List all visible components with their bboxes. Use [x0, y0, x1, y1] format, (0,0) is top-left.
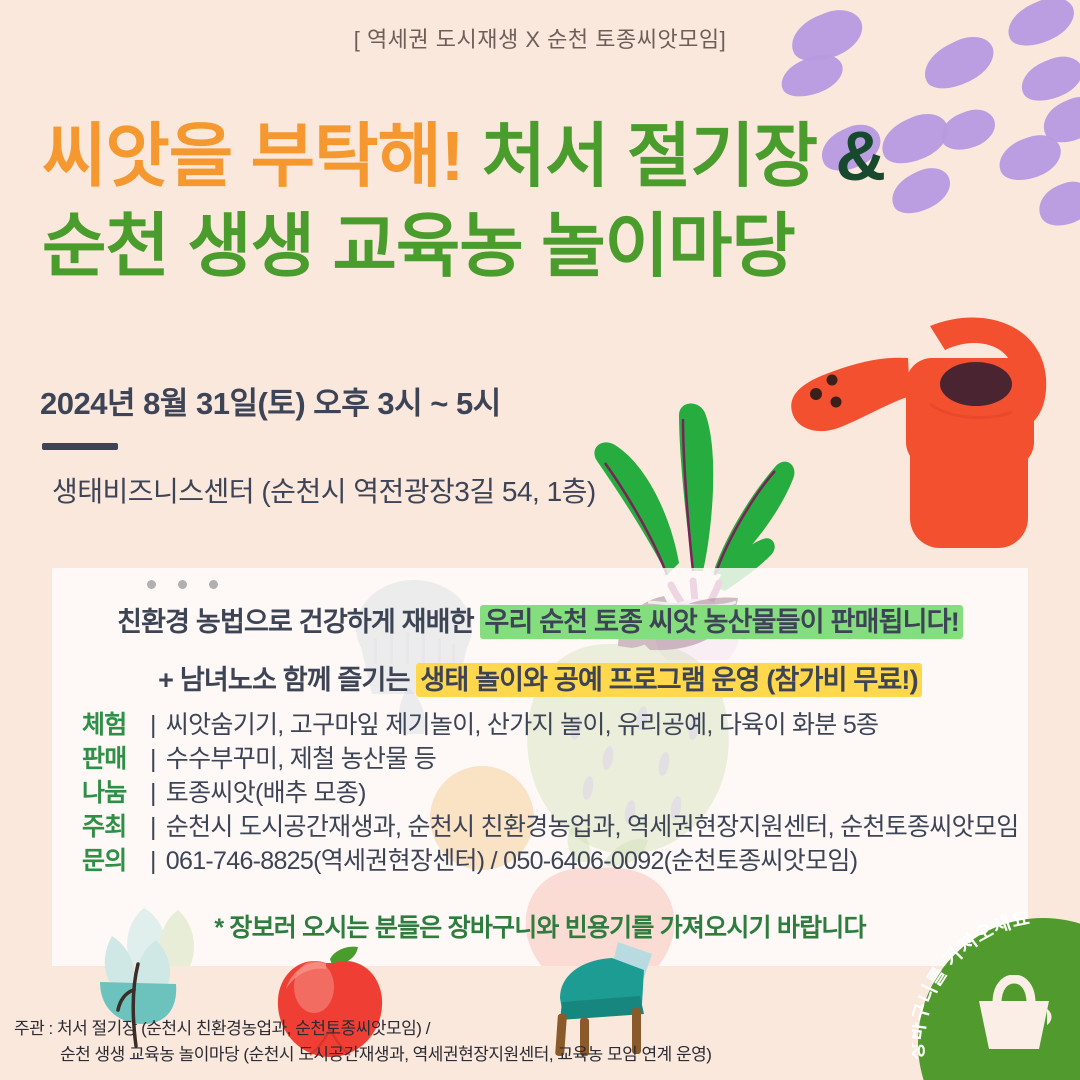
bring-basket-note: * 장보러 오시는 분들은 장바구니와 빈용기를 가져오시기 바랍니다 — [52, 908, 1028, 944]
detail-row-label: 판매 — [82, 742, 144, 776]
detail-row-separator: | — [150, 742, 156, 776]
title-part-green: 처서 절기장 — [482, 117, 836, 195]
detail-row-separator: | — [150, 810, 156, 844]
poster-canvas: [ 역세권 도시재생 X 순천 토종씨앗모임] 씨앗을 부탁해! 처서 절기장 … — [0, 0, 1080, 1080]
detail-row-value: 토종씨앗(배추 모종) — [166, 776, 366, 810]
content-panel: 친환경 농법으로 건강하게 재배한 우리 순천 토종 씨앗 농산물들이 판매됩니… — [52, 568, 1028, 966]
detail-row-label: 나눔 — [82, 776, 144, 810]
detail-row: 나눔 | 토종씨앗(배추 모종) — [82, 776, 1019, 810]
detail-row: 주최 | 순천시 도시공간재생과, 순천시 친환경농업과, 역세권현장지원센터,… — [82, 810, 1019, 844]
title-part-orange: 씨앗을 부탁해! — [42, 117, 482, 195]
detail-row-value: 순천시 도시공간재생과, 순천시 친환경농업과, 역세권현장지원센터, 순천토종… — [166, 810, 1019, 844]
purple-brush-stroke-icon — [993, 128, 1067, 187]
title-line-1: 씨앗을 부탁해! 처서 절기장 & — [42, 112, 1002, 202]
title-part-ampersand: & — [836, 117, 886, 195]
detail-row-label: 문의 — [82, 844, 144, 878]
purple-brush-stroke-icon — [1015, 49, 1080, 108]
detail-rows: 체험 | 씨앗숨기기, 고구마잎 제기놀이, 산가지 놀이, 유리공예, 다육이… — [82, 708, 1019, 878]
lead-line-1: 친환경 농법으로 건강하게 재배한 우리 순천 토종 씨앗 농산물들이 판매됩니… — [52, 600, 1028, 639]
lead-1-plain: 친환경 농법으로 건강하게 재배한 — [117, 607, 480, 637]
lead-line-2: + 남녀노소 함께 즐기는 생태 놀이와 공예 프로그램 운영 (참가비 무료!… — [52, 658, 1028, 697]
purple-brush-stroke-icon — [1036, 90, 1080, 151]
event-datetime: 2024년 8월 31일(토) 오후 3시 ~ 5시 — [40, 378, 501, 423]
credits-line-2: 순천 생생 교육농 놀이마당 (순천시 도시공간재생과, 역세권현장지원센터, … — [14, 1042, 711, 1068]
detail-row: 판매 | 수수부꾸미, 제철 농산물 등 — [82, 742, 1019, 776]
page-title: 씨앗을 부탁해! 처서 절기장 & 순천 생생 교육농 놀이마당 — [42, 112, 1002, 291]
lead-1-highlight: 우리 순천 토종 씨앗 농산물들이 판매됩니다! — [480, 605, 962, 639]
detail-row-value: 061-746-8825(역세권현장센터) / 050-6406-0092(순천… — [166, 844, 858, 878]
purple-brush-stroke-icon — [1033, 175, 1080, 233]
detail-row-value: 씨앗숨기기, 고구마잎 제기놀이, 산가지 놀이, 유리공예, 다육이 화분 5… — [166, 708, 879, 742]
detail-row-label: 체험 — [82, 708, 144, 742]
detail-row-value: 수수부꾸미, 제철 농산물 등 — [166, 742, 436, 776]
lead-2-highlight: 생태 놀이와 공예 프로그램 운영 (참가비 무료!) — [416, 663, 922, 697]
detail-row-label: 주최 — [82, 810, 144, 844]
credits-block: 주관 : 처서 절기장 (순천시 친환경농업과, 순천토종씨앗모임) / 순천 … — [14, 1016, 711, 1069]
event-venue: 생태비즈니스센터 (순천시 역전광장3길 54, 1층) — [52, 470, 596, 510]
dot-icon — [209, 580, 218, 589]
dot-icon — [147, 580, 156, 589]
eyebrow-tagline: [ 역세권 도시재생 X 순천 토종씨앗모임] — [0, 22, 1080, 54]
detail-row-separator: | — [150, 708, 156, 742]
title-line-2: 순천 생생 교육농 놀이마당 — [42, 202, 1002, 292]
detail-row-separator: | — [150, 776, 156, 810]
dot-icon — [178, 580, 187, 589]
detail-row-separator: | — [150, 844, 156, 878]
purple-brush-stroke-icon — [776, 48, 848, 104]
credits-line-1: 주관 : 처서 절기장 (순천시 친환경농업과, 순천토종씨앗모임) / — [14, 1016, 711, 1042]
shopping-bag-icon — [973, 975, 1055, 1053]
decorative-dots — [147, 580, 218, 589]
lead-2-plain: + 남녀노소 함께 즐기는 — [158, 665, 416, 695]
title-rule-divider — [42, 443, 118, 450]
detail-row: 체험 | 씨앗숨기기, 고구마잎 제기놀이, 산가지 놀이, 유리공예, 다육이… — [82, 708, 1019, 742]
detail-row: 문의 | 061-746-8825(역세권현장센터) / 050-6406-00… — [82, 844, 1019, 878]
